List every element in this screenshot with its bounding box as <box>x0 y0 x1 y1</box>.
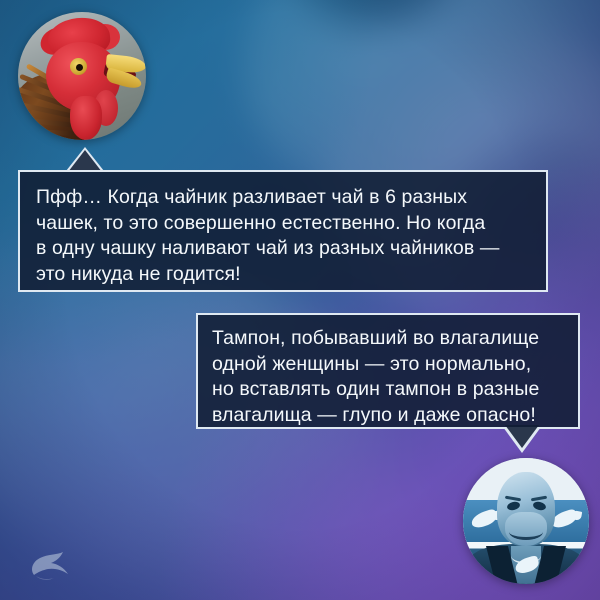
speech-bubble-rooster: Пфф… Когда чайник разливает чай в 6 разн… <box>18 170 548 292</box>
bubble-1-tail <box>68 150 102 172</box>
bubble-2-text: Тампон, побывавший во влагалище одной же… <box>212 326 564 428</box>
rooster-avatar <box>18 12 146 140</box>
meme-image: Пфф… Когда чайник разливает чай в 6 разн… <box>0 0 600 600</box>
dolphin-man-avatar <box>463 458 589 584</box>
bubble-1-text: Пфф… Когда чайник разливает чай в 6 разн… <box>36 185 532 287</box>
speech-bubble-dolphin-man: Тампон, побывавший во влагалище одной же… <box>196 313 580 429</box>
bubble-2-tail <box>505 425 539 448</box>
dolphin-watermark-icon <box>24 548 78 582</box>
